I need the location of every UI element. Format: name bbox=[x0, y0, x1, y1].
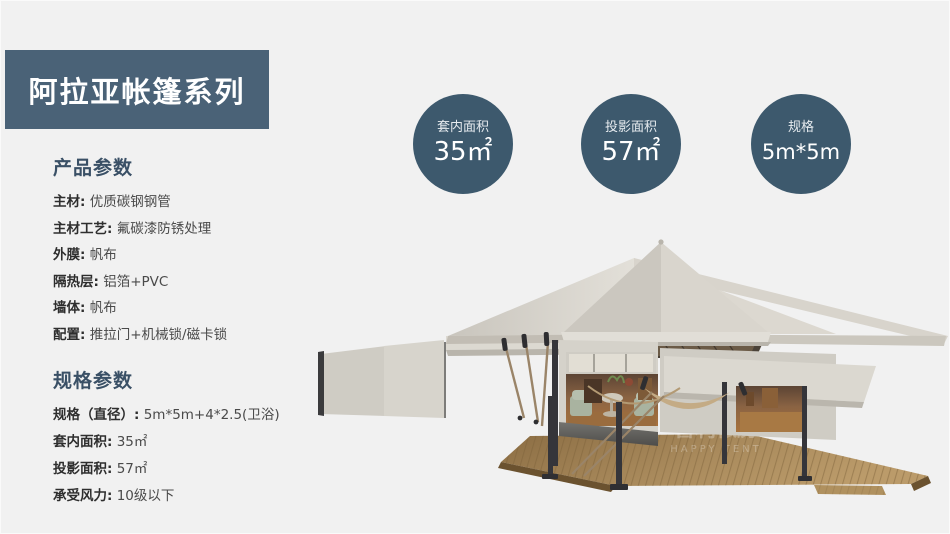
param-value: 帆布 bbox=[90, 247, 117, 263]
badge-value: 35㎡ bbox=[433, 136, 492, 168]
param-key: 主材: bbox=[53, 194, 85, 210]
stat-badge-dimensions: 规格 5m*5m bbox=[751, 94, 851, 194]
product-params-block: 产品参数 主材: 优质碳钢钢管 主材工艺: 氟碳漆防锈处理 外膜: 帆布 隔热层… bbox=[53, 153, 353, 348]
list-item: 承受风力: 10级以下 bbox=[53, 483, 353, 510]
list-item: 配置: 推拉门+机械锁/磁卡锁 bbox=[53, 322, 353, 349]
list-item: 外膜: 帆布 bbox=[53, 242, 353, 269]
param-key: 投影面积: bbox=[53, 461, 112, 477]
param-key: 隔热层: bbox=[53, 274, 99, 290]
badge-value: 57㎡ bbox=[601, 136, 660, 168]
param-value: 10级以下 bbox=[117, 488, 175, 504]
spec-params-block: 规格参数 规格（直径）: 5m*5m+4*2.5(卫浴) 套内面积: 35㎡ 投… bbox=[53, 366, 353, 510]
badge-label: 规格 bbox=[788, 120, 814, 136]
product-params-list: 主材: 优质碳钢钢管 主材工艺: 氟碳漆防锈处理 外膜: 帆布 隔热层: 铝箔+… bbox=[53, 189, 353, 348]
list-item: 投影面积: 57㎡ bbox=[53, 456, 353, 483]
product-params-heading: 产品参数 bbox=[53, 153, 353, 180]
list-item: 主材工艺: 氟碳漆防锈处理 bbox=[53, 216, 353, 243]
param-key: 主材工艺: bbox=[53, 221, 112, 237]
param-value: 57㎡ bbox=[117, 461, 148, 477]
tent-illustration: 喜利帐房 HAPPY TENT bbox=[316, 236, 950, 501]
product-spec-page: 阿拉亚帐篷系列 产品参数 主材: 优质碳钢钢管 主材工艺: 氟碳漆防锈处理 外膜… bbox=[0, 0, 950, 534]
param-value: 帆布 bbox=[90, 300, 117, 316]
list-item: 套内面积: 35㎡ bbox=[53, 429, 353, 456]
param-key: 墙体: bbox=[53, 300, 85, 316]
param-key: 规格（直径）: bbox=[53, 407, 139, 423]
watermark-subtext: HAPPY TENT bbox=[670, 444, 762, 455]
badge-value: 5m*5m bbox=[762, 136, 840, 168]
param-key: 套内面积: bbox=[53, 434, 112, 450]
spec-panel: 产品参数 主材: 优质碳钢钢管 主材工艺: 氟碳漆防锈处理 外膜: 帆布 隔热层… bbox=[53, 153, 353, 510]
list-item: 隔热层: 铝箔+PVC bbox=[53, 269, 353, 296]
page-title: 阿拉亚帐篷系列 bbox=[28, 69, 245, 111]
badge-label: 套内面积 bbox=[437, 120, 489, 136]
stat-badge-interior-area: 套内面积 35㎡ bbox=[413, 94, 513, 194]
param-value: 推拉门+机械锁/磁卡锁 bbox=[90, 327, 227, 343]
list-item: 主材: 优质碳钢钢管 bbox=[53, 189, 353, 216]
param-value: 优质碳钢钢管 bbox=[90, 194, 171, 210]
list-item: 墙体: 帆布 bbox=[53, 295, 353, 322]
param-key: 配置: bbox=[53, 327, 85, 343]
param-value: 35㎡ bbox=[117, 434, 148, 450]
spec-params-heading: 规格参数 bbox=[53, 366, 353, 393]
annex-wall bbox=[318, 340, 444, 418]
param-value: 5m*5m+4*2.5(卫浴) bbox=[144, 407, 280, 423]
param-value: 氟碳漆防锈处理 bbox=[117, 221, 212, 237]
tent-product-image: 喜利帐房 HAPPY TENT bbox=[316, 236, 950, 501]
page-title-banner: 阿拉亚帐篷系列 bbox=[5, 50, 269, 129]
param-key: 承受风力: bbox=[53, 488, 112, 504]
param-value: 铝箔+PVC bbox=[103, 274, 168, 290]
param-key: 外膜: bbox=[53, 247, 85, 263]
stat-badge-projected-area: 投影面积 57㎡ bbox=[581, 94, 681, 194]
list-item: 规格（直径）: 5m*5m+4*2.5(卫浴) bbox=[53, 402, 353, 429]
spec-params-list: 规格（直径）: 5m*5m+4*2.5(卫浴) 套内面积: 35㎡ 投影面积: … bbox=[53, 402, 353, 510]
badge-label: 投影面积 bbox=[605, 120, 657, 136]
